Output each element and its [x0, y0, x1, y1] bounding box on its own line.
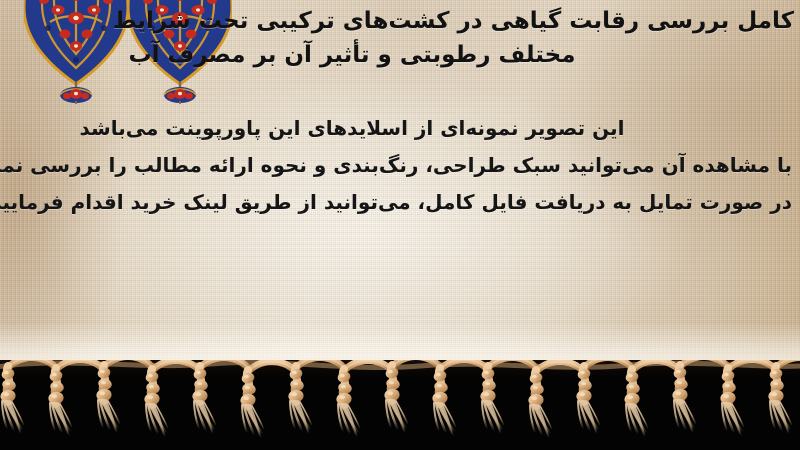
- tassel-fringe: [0, 360, 800, 450]
- title-line-2: مختلف رطوبتی و تأثیر آن بر مصرف آب: [0, 38, 704, 72]
- body-line-3: در صورت تمایل به دریافت فایل کامل، می‌تو…: [2, 184, 792, 221]
- slide-canvas: کامل بررسی رقابت گیاهی در کشت‌های ترکیبی…: [0, 0, 800, 450]
- slide-title: کامل بررسی رقابت گیاهی در کشت‌های ترکیبی…: [0, 4, 794, 72]
- title-line-1: کامل بررسی رقابت گیاهی در کشت‌های ترکیبی…: [0, 4, 794, 38]
- body-line-2: با مشاهده آن می‌توانید سبک طراحی، رنگ‌بن…: [2, 147, 792, 184]
- fringe-svg: [0, 360, 800, 450]
- body-line-1: این تصویر نمونه‌ای از اسلایدهای این پاور…: [2, 110, 702, 147]
- slide-text-layer: کامل بررسی رقابت گیاهی در کشت‌های ترکیبی…: [0, 0, 800, 378]
- slide-body: این تصویر نمونه‌ای از اسلایدهای این پاور…: [2, 110, 792, 221]
